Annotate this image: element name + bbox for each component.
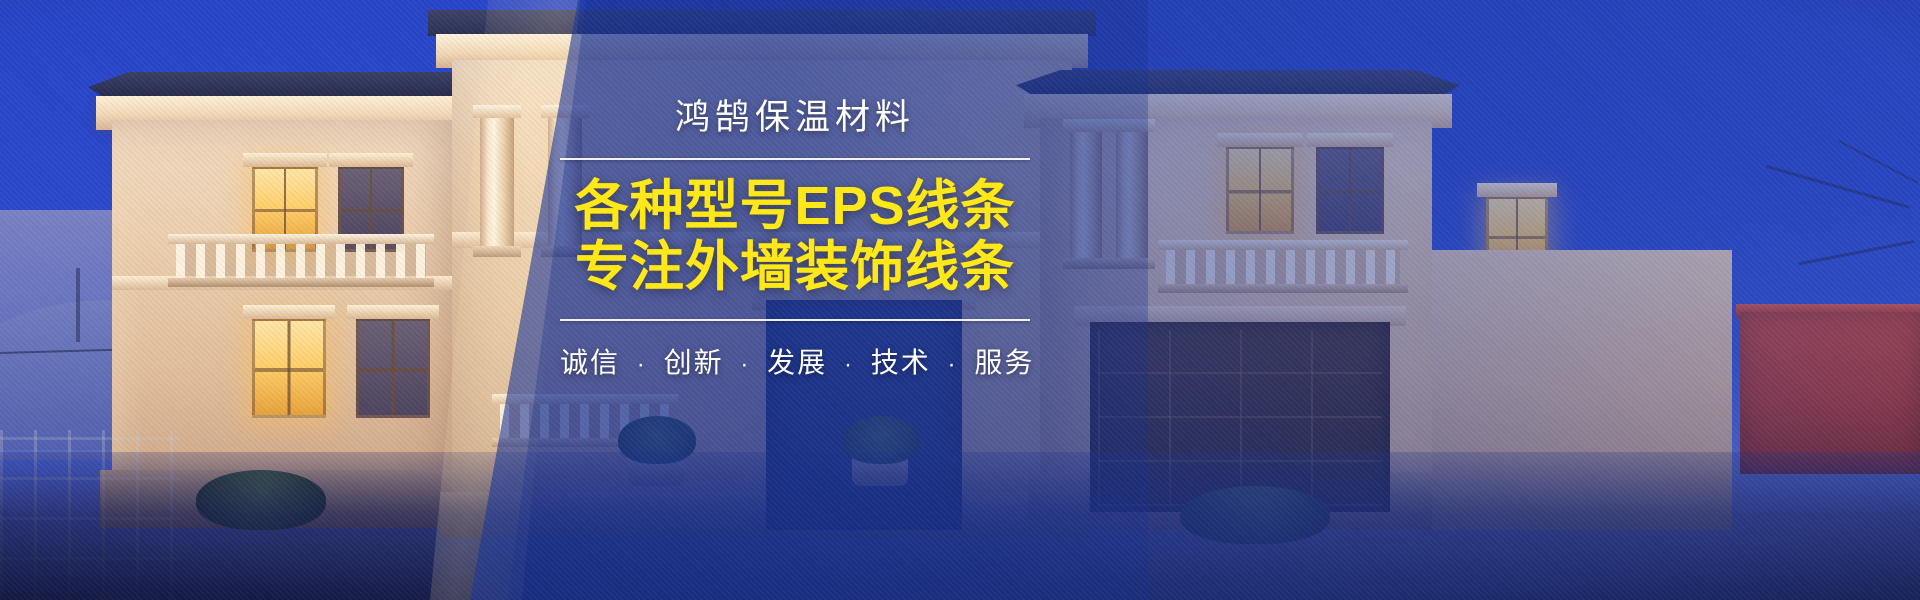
slogan-separator-2: · xyxy=(733,351,757,378)
window-mullion xyxy=(359,321,427,415)
column-capital xyxy=(1063,119,1109,132)
balustrade-right xyxy=(1166,250,1400,284)
balustrade-plinth xyxy=(1158,284,1408,293)
slogan-item-3: 发展 xyxy=(767,347,827,378)
column-right-1 xyxy=(1070,132,1102,258)
window-header-trim xyxy=(243,153,327,167)
column-right-2 xyxy=(1116,132,1148,258)
window-left-lower-1 xyxy=(252,318,326,418)
slogan-separator-4: · xyxy=(941,351,965,378)
slogan-separator-1: · xyxy=(630,351,654,378)
window-header-trim xyxy=(329,153,413,167)
headline-line-1: 各种型号EPS线条 xyxy=(560,176,1030,238)
window-header-trim xyxy=(1477,183,1557,197)
window-right-upper-2 xyxy=(1316,146,1384,234)
column-capital xyxy=(473,105,521,118)
column-base xyxy=(1109,258,1155,269)
window-mullion xyxy=(1229,149,1291,231)
divider-top xyxy=(560,158,1030,160)
window-header-trim xyxy=(347,305,439,319)
distant-spire xyxy=(76,268,80,342)
balustrade-plinth xyxy=(168,278,434,287)
column-center-1 xyxy=(480,118,514,246)
slogan-separator-3: · xyxy=(837,351,861,378)
headline-line-2: 专注外墙装饰线条 xyxy=(560,237,1030,299)
red-structure xyxy=(1740,312,1920,474)
slogan-item-5: 服务 xyxy=(974,347,1034,378)
column-base xyxy=(1063,258,1109,269)
headline-group: 各种型号EPS线条 专注外墙装饰线条 xyxy=(560,176,1030,299)
slogan-item-4: 技术 xyxy=(871,347,931,378)
balustrade-rail xyxy=(168,234,434,244)
column-base xyxy=(473,246,521,257)
hero-banner: 鸿鹄保温材料 各种型号EPS线条 专注外墙装饰线条 诚信 · 创新 · 发展 ·… xyxy=(0,0,1920,600)
window-header-trim xyxy=(1217,133,1303,147)
foreground-ground xyxy=(0,452,1920,600)
balustrade-rail xyxy=(1158,240,1408,250)
window-header-trim xyxy=(243,305,335,319)
slogan: 诚信 · 创新 · 发展 · 技术 · 服务 xyxy=(560,341,1030,381)
window-left-lower-2 xyxy=(356,318,430,418)
banner-copy: 鸿鹄保温材料 各种型号EPS线条 专注外墙装饰线条 诚信 · 创新 · 发展 ·… xyxy=(560,96,1030,381)
brand-name: 鸿鹄保温材料 xyxy=(560,96,1030,140)
left-wing-roof xyxy=(88,72,496,98)
window-mullion xyxy=(255,321,323,415)
balustrade-rail xyxy=(492,394,678,404)
window-right-upper-1 xyxy=(1226,146,1294,234)
divider-bottom xyxy=(560,319,1030,321)
window-mullion xyxy=(1319,149,1381,231)
window-header-trim xyxy=(1307,133,1393,147)
right-wing-roof xyxy=(1016,70,1460,96)
slogan-item-1: 诚信 xyxy=(560,347,620,378)
column-capital xyxy=(1109,119,1155,132)
slogan-item-2: 创新 xyxy=(664,347,724,378)
center-block-roof xyxy=(428,10,1096,36)
balustrade-left xyxy=(176,244,426,278)
